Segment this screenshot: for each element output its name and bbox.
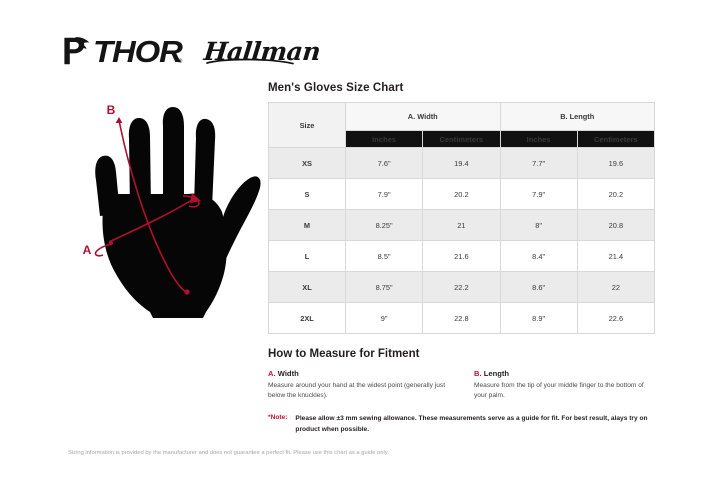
thor-hammer-icon (62, 36, 92, 66)
column-header-size: Size (269, 103, 346, 148)
how-to-measure-title: How to Measure for Fitment (268, 348, 658, 360)
length-endpoint-dot (184, 289, 189, 294)
measure-length-block: B. Length Measure from the tip of your m… (474, 369, 654, 401)
column-header-length-centimeters: Centimeters (577, 131, 654, 148)
hand-silhouette-icon (95, 107, 260, 318)
cell-width-centimeters: 22.2 (423, 272, 500, 303)
table-row: M8.25"218"20.8 (269, 210, 655, 241)
cell-length-centimeters: 20.8 (577, 210, 654, 241)
size-chart-table: Size A. Width B. Length Inches Centimete… (268, 102, 655, 334)
cell-size: XL (269, 272, 346, 303)
column-header-width-centimeters: Centimeters (423, 131, 500, 148)
length-arrowhead (116, 117, 123, 126)
measure-length-letter: B. (474, 369, 482, 378)
table-row: S7.9"20.27.9"20.2 (269, 179, 655, 210)
table-row: L8.5"21.68.4"21.4 (269, 241, 655, 272)
page-title: Men's Gloves Size Chart (268, 82, 658, 94)
cell-length-centimeters: 19.6 (577, 148, 654, 179)
column-group-length: B. Length (500, 103, 655, 131)
size-chart-content: Men's Gloves Size Chart Size A. Width B.… (268, 82, 658, 436)
cell-length-inches: 8.4" (500, 241, 577, 272)
cell-width-inches: 8.5" (346, 241, 423, 272)
cell-size: L (269, 241, 346, 272)
cell-length-centimeters: 22.6 (577, 303, 654, 334)
note-label: *Note: (268, 414, 287, 435)
cell-width-centimeters: 21 (423, 210, 500, 241)
note-text: Please allow ±3 mm sewing allowance. The… (295, 414, 655, 435)
cell-length-centimeters: 22 (577, 272, 654, 303)
measure-width-text: Measure around your hand at the widest p… (268, 381, 448, 401)
label-a: A (83, 243, 92, 257)
measure-length-text: Measure from the tip of your middle fing… (474, 381, 654, 401)
cell-length-inches: 7.9" (500, 179, 577, 210)
cell-size: M (269, 210, 346, 241)
disclaimer-footer: Sizing information is provided by the ma… (68, 448, 408, 458)
table-body: XS7.6"19.47.7"19.6S7.9"20.27.9"20.2M8.25… (269, 148, 655, 334)
column-header-width-inches: Inches (346, 131, 423, 148)
cell-size: 2XL (269, 303, 346, 334)
width-endpoint-dot (109, 241, 113, 245)
how-to-measure-columns: A. Width Measure around your hand at the… (268, 369, 658, 401)
cell-width-centimeters: 20.2 (423, 179, 500, 210)
hallman-underline-flourish (206, 58, 294, 65)
column-group-width: A. Width (346, 103, 501, 131)
measure-length-heading: B. Length (474, 369, 654, 378)
label-b: B (107, 103, 116, 117)
cell-size: S (269, 179, 346, 210)
cell-width-inches: 8.75" (346, 272, 423, 303)
cell-width-inches: 7.9" (346, 179, 423, 210)
table-row: XS7.6"19.47.7"19.6 (269, 148, 655, 179)
cell-width-inches: 7.6" (346, 148, 423, 179)
note-row: *Note: Please allow ±3 mm sewing allowan… (268, 414, 658, 435)
column-header-length-inches: Inches (500, 131, 577, 148)
table-header-row-groups: Size A. Width B. Length (269, 103, 655, 131)
cell-width-centimeters: 22.8 (423, 303, 500, 334)
hallman-logo: Hallman (204, 34, 320, 68)
measure-width-name: Width (278, 369, 299, 378)
table-row: XL8.75"22.28.6"22 (269, 272, 655, 303)
cell-width-inches: 8.25" (346, 210, 423, 241)
thor-wordmark: THOR (93, 36, 182, 67)
measure-length-name: Length (484, 369, 509, 378)
brand-logo-bar: THOR ® Hallman (62, 30, 320, 72)
cell-length-inches: 8" (500, 210, 577, 241)
cell-width-centimeters: 19.4 (423, 148, 500, 179)
cell-size: XS (269, 148, 346, 179)
cell-length-centimeters: 20.2 (577, 179, 654, 210)
thor-logo: THOR ® (62, 34, 182, 68)
measure-width-block: A. Width Measure around your hand at the… (268, 369, 448, 401)
table-row: 2XL9"22.88.9"22.6 (269, 303, 655, 334)
cell-width-inches: 9" (346, 303, 423, 334)
how-to-measure-section: How to Measure for Fitment A. Width Meas… (268, 348, 658, 436)
cell-length-inches: 8.6" (500, 272, 577, 303)
hand-measurement-diagram: B A (70, 96, 262, 318)
table-header: Size A. Width B. Length Inches Centimete… (269, 103, 655, 148)
cell-length-inches: 8.9" (500, 303, 577, 334)
measure-width-letter: A. (268, 369, 276, 378)
measure-width-heading: A. Width (268, 369, 448, 378)
cell-length-inches: 7.7" (500, 148, 577, 179)
cell-width-centimeters: 21.6 (423, 241, 500, 272)
cell-length-centimeters: 21.4 (577, 241, 654, 272)
